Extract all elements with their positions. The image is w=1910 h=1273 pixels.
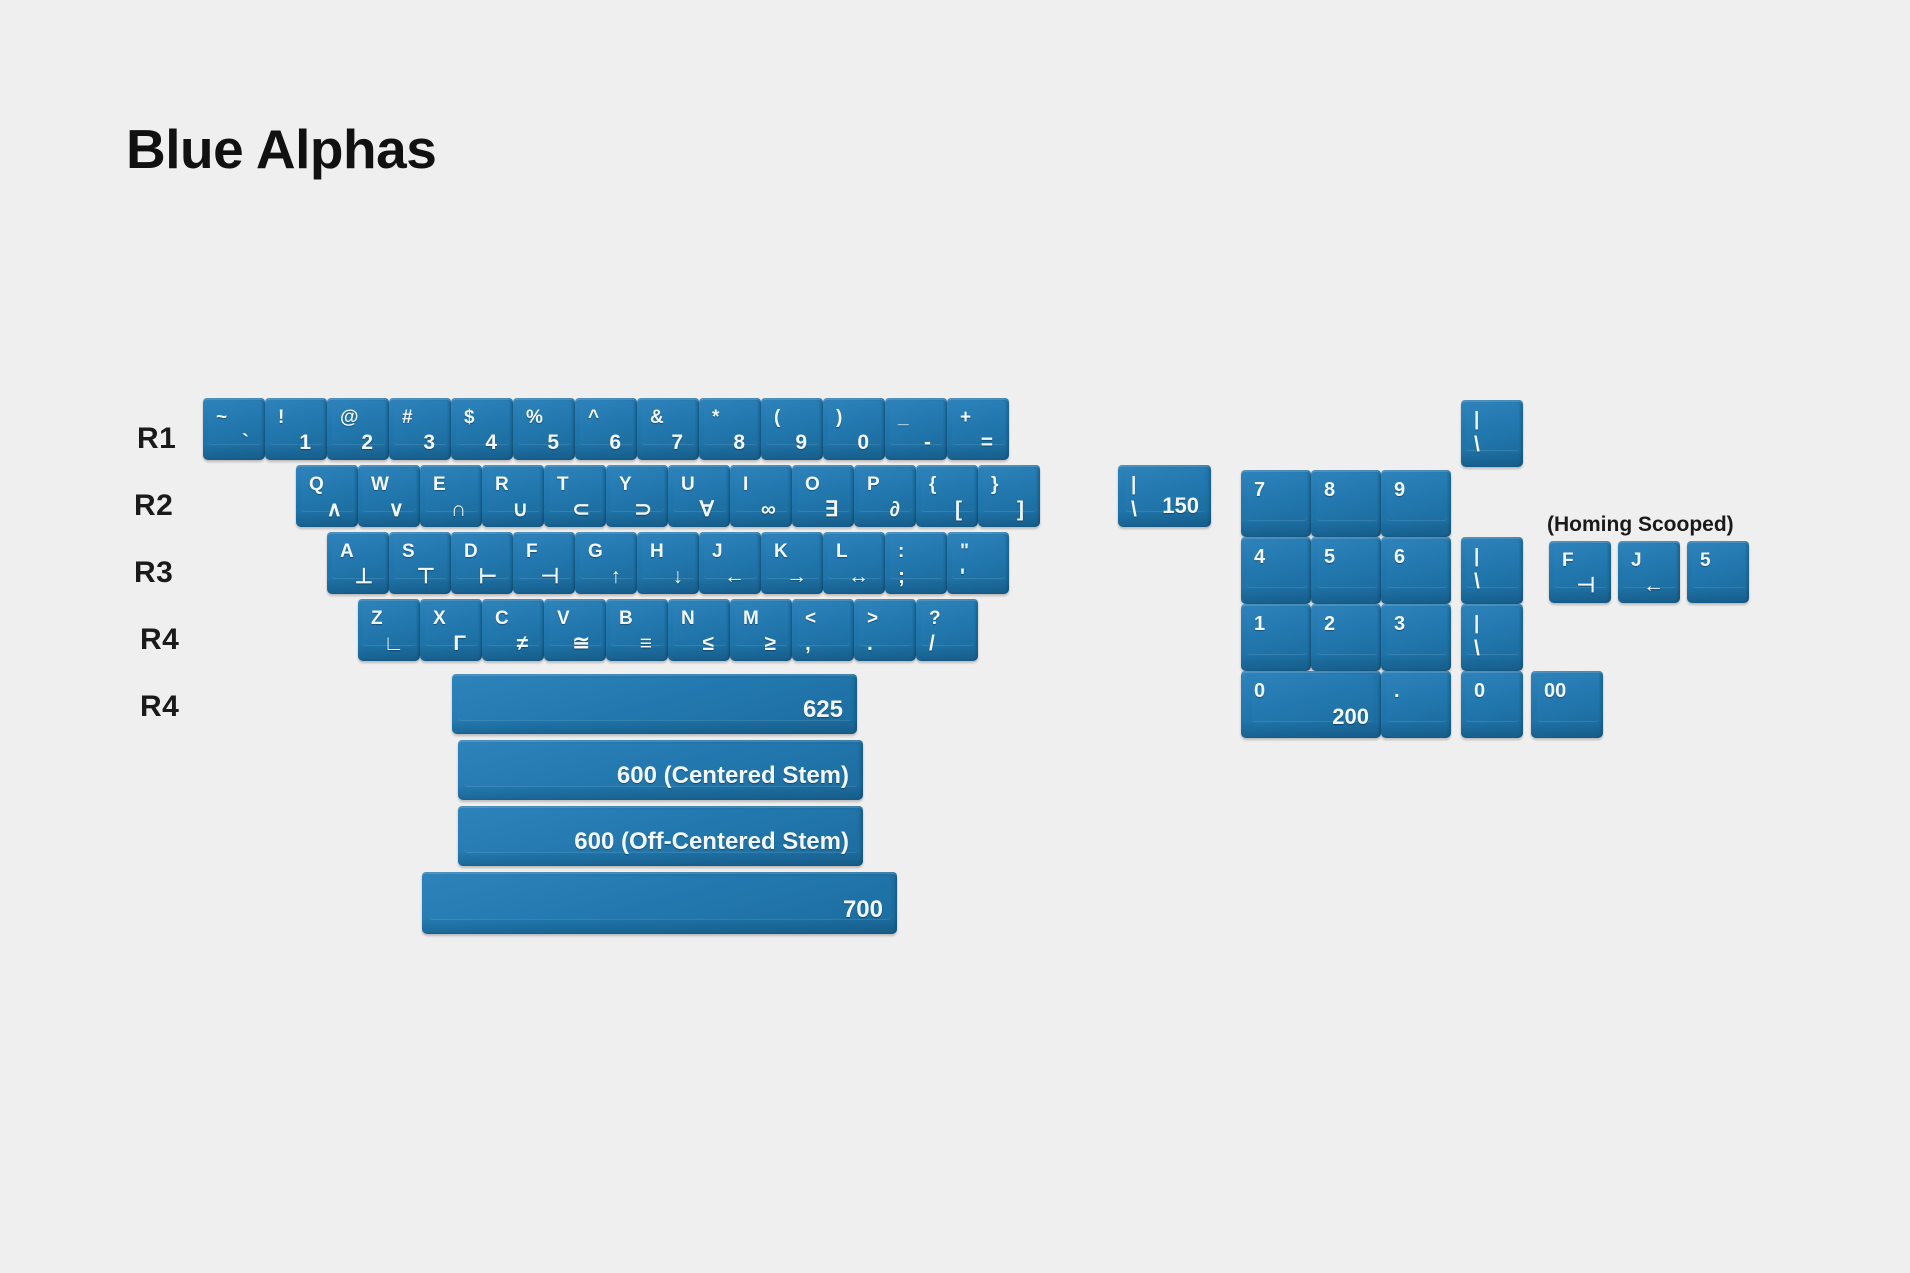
keycap-legend-bottom: 2 <box>361 432 373 453</box>
keycap-numpad-0-200[interactable]: 0 200 <box>1241 671 1381 738</box>
keycap-r4-6[interactable]: M ≥ <box>730 599 792 661</box>
keycap-numpad-5[interactable]: 5 <box>1311 537 1381 604</box>
keycap-legend: 7 <box>1254 480 1265 500</box>
keycap-legend-bottom: 6 <box>609 432 621 453</box>
keycap-legend-bottom: [ <box>955 499 962 520</box>
keycap-legend-top: V <box>557 609 570 628</box>
keycap-legend-top: Z <box>371 609 383 628</box>
keycap-legend-top: ) <box>836 408 842 427</box>
keycap-r4-0[interactable]: Z ∟ <box>358 599 420 661</box>
keycap-legend-bottom: ] <box>1017 499 1024 520</box>
keycap-legend-top: F <box>1562 551 1574 570</box>
keycap-legend-bottom: ∞ <box>761 499 776 520</box>
keycap-legend-bottom: \ <box>1474 434 1480 455</box>
keycap-legend-top: O <box>805 475 820 494</box>
keycap-legend-top: { <box>929 475 936 494</box>
keycap-legend-bottom: ∧ <box>327 499 342 520</box>
keycap-legend-top: @ <box>340 408 359 427</box>
keycap-r3-8[interactable]: L ↔ <box>823 532 885 594</box>
keycap-numpad-3[interactable]: 3 <box>1381 604 1451 671</box>
keycap-size-label: 700 <box>843 898 883 922</box>
keycap-legend-bottom: ∨ <box>389 499 404 520</box>
keycap-legend: 2 <box>1324 614 1335 634</box>
keycap-right-zero[interactable]: 0 <box>1461 671 1523 738</box>
keycap-legend-bottom: ∟ <box>383 633 404 654</box>
keycap-r1-11[interactable]: _ - <box>885 398 947 460</box>
keycap-legend-bottom: . <box>867 633 873 654</box>
keycap-legend: 00 <box>1544 681 1566 701</box>
page-title: Blue Alphas <box>126 122 436 177</box>
keycap-legend-bottom: ⊣ <box>541 566 559 587</box>
keycap-r2-0[interactable]: Q ∧ <box>296 465 358 527</box>
keycap-r4-4[interactable]: B ≡ <box>606 599 668 661</box>
keycap-legend-bottom: ∂ <box>890 499 900 520</box>
keycap-legend: 5 <box>1324 547 1335 567</box>
keycap-r3-2[interactable]: D ⊢ <box>451 532 513 594</box>
keycap-numpad-9[interactable]: 9 <box>1381 470 1451 537</box>
keycap-legend: 0 <box>1474 681 1485 701</box>
keycap-r1-9[interactable]: ( 9 <box>761 398 823 460</box>
keycap-legend-top: ~ <box>216 408 227 427</box>
keycap-legend: . <box>1394 681 1400 701</box>
keycap-legend-top: P <box>867 475 880 494</box>
keycap-r4-3[interactable]: V ≅ <box>544 599 606 661</box>
keycap-legend-bottom: ⊤ <box>417 566 435 587</box>
keycap-legend: 8 <box>1324 480 1335 500</box>
keycap-legend-top: B <box>619 609 633 628</box>
keycap-legend-bottom: 7 <box>671 432 683 453</box>
keycap-legend-bottom: 1 <box>299 432 311 453</box>
keycap-r4-1[interactable]: X Γ <box>420 599 482 661</box>
keycap-legend-bottom: ⊣ <box>1577 575 1595 596</box>
keycap-legend-top: " <box>960 542 969 561</box>
keycap-r2-2[interactable]: E ∩ <box>420 465 482 527</box>
keycap-r1-6[interactable]: ^ 6 <box>575 398 637 460</box>
keycap-homing-f[interactable]: F ⊣ <box>1549 541 1611 603</box>
keycap-legend-bottom: ⊢ <box>479 566 497 587</box>
keycap-legend-bottom: \ <box>1474 638 1480 659</box>
keycap-legend-top: A <box>340 542 354 561</box>
keycap-r2-5[interactable]: Y ⊃ <box>606 465 668 527</box>
keycap-spacebar-600-offcentered[interactable]: 600 (Off-Centered Stem) <box>458 806 863 866</box>
keycap-legend-top: & <box>650 408 664 427</box>
keycap-legend: 6 <box>1394 547 1405 567</box>
keycap-legend-bottom: ≤ <box>702 633 714 654</box>
keycap-legend: 0 <box>1254 681 1265 701</box>
keycap-legend-bottom: ` <box>242 432 249 453</box>
keycap-legend-bottom: ⊂ <box>572 499 590 520</box>
keycap-r4-8[interactable]: > . <box>854 599 916 661</box>
keycap-numpad-8[interactable]: 8 <box>1311 470 1381 537</box>
keycap-numpad-7[interactable]: 7 <box>1241 470 1311 537</box>
keycap-r3-4[interactable]: G ↑ <box>575 532 637 594</box>
keycap-r4-9[interactable]: ? / <box>916 599 978 661</box>
keycap-legend-bottom: ↓ <box>673 566 684 587</box>
keycap-legend-bottom: ← <box>1643 575 1664 596</box>
keycap-r2-4[interactable]: T ⊂ <box>544 465 606 527</box>
keycap-legend-top: * <box>712 408 719 427</box>
keycap-legend-bottom: ∀ <box>700 499 714 520</box>
keycap-numpad-4[interactable]: 4 <box>1241 537 1311 604</box>
keycap-r1-10[interactable]: ) 0 <box>823 398 885 460</box>
keycap-legend-bottom: 4 <box>485 432 497 453</box>
keycap-pipe-a[interactable]: | \ <box>1461 537 1523 604</box>
keycap-r3-10[interactable]: " ' <box>947 532 1009 594</box>
keycap-r3-1[interactable]: S ⊤ <box>389 532 451 594</box>
keycap-legend-bottom: ⊥ <box>355 566 373 587</box>
keycap-legend-top: J <box>1631 551 1642 570</box>
keycap-r3-7[interactable]: K → <box>761 532 823 594</box>
keycap-legend-top: U <box>681 475 695 494</box>
keycap-legend-bottom: ∩ <box>451 499 466 520</box>
keycap-legend-top: % <box>526 408 543 427</box>
keycap-legend-top: ! <box>278 408 284 427</box>
keycap-legend-top: : <box>898 542 904 561</box>
keycap-legend-top: R <box>495 475 509 494</box>
keycap-spacebar-625[interactable]: 625 <box>452 674 857 734</box>
keycap-r3-5[interactable]: H ↓ <box>637 532 699 594</box>
keycap-legend-top: Q <box>309 475 324 494</box>
keycap-legend: 9 <box>1394 480 1405 500</box>
keycap-legend: 1 <box>1254 614 1265 634</box>
keycap-r1-7[interactable]: & 7 <box>637 398 699 460</box>
keycap-legend-top: M <box>743 609 759 628</box>
keycap-legend-top: N <box>681 609 695 628</box>
keycap-spacebar-600-centered[interactable]: 600 (Centered Stem) <box>458 740 863 800</box>
keycap-legend-top: | <box>1474 547 1479 566</box>
keycap-legend-bottom: \ <box>1131 499 1137 520</box>
keycap-legend-top: _ <box>898 408 909 427</box>
keycap-legend-bottom: ≠ <box>516 633 528 654</box>
keycap-r3-3[interactable]: F ⊣ <box>513 532 575 594</box>
keycap-legend-bottom: ∃ <box>825 499 838 520</box>
homing-scooped-note: (Homing Scooped) <box>1547 513 1734 537</box>
keycap-r2-8[interactable]: O ∃ <box>792 465 854 527</box>
keycap-legend-bottom: , <box>805 633 811 654</box>
keycap-size-label: 600 (Centered Stem) <box>617 764 849 788</box>
keycap-legend-top: D <box>464 542 478 561</box>
keycap-legend-top: $ <box>464 408 475 427</box>
keycap-size-label: 625 <box>803 698 843 722</box>
keycap-legend-bottom: ← <box>724 566 745 587</box>
keycap-legend-top: Y <box>619 475 632 494</box>
row-label-r2: R2 <box>134 489 173 523</box>
keycap-r2-6[interactable]: U ∀ <box>668 465 730 527</box>
keycap-r1-2[interactable]: @ 2 <box>327 398 389 460</box>
keycap-legend-bottom: - <box>924 432 931 453</box>
keycap-r2-3[interactable]: R ∪ <box>482 465 544 527</box>
keycap-legend-bottom: ∪ <box>513 499 528 520</box>
keycap-r1-3[interactable]: # 3 <box>389 398 451 460</box>
keycap-r3-6[interactable]: J ← <box>699 532 761 594</box>
keycap-legend-bottom: ↔ <box>848 566 869 587</box>
keycap-legend-bottom: ; <box>898 566 905 587</box>
keycap-legend-bottom: 5 <box>547 432 559 453</box>
keycap-legend-bottom: ⊃ <box>634 499 652 520</box>
keycap-legend-top: W <box>371 475 389 494</box>
keycap-legend-top: X <box>433 609 446 628</box>
keycap-legend-bottom: 0 <box>857 432 869 453</box>
keycap-legend: 4 <box>1254 547 1265 567</box>
row-label-r1: R1 <box>137 422 176 456</box>
keycap-numpad-2[interactable]: 2 <box>1311 604 1381 671</box>
keycap-legend-top: 5 <box>1700 551 1711 570</box>
keycap-legend-top: S <box>402 542 415 561</box>
keycap-size-label: 150 <box>1162 495 1199 517</box>
keycap-size-label: 200 <box>1332 706 1369 728</box>
keycap-homing-5[interactable]: 5 <box>1687 541 1749 603</box>
keycap-legend: 3 <box>1394 614 1405 634</box>
keycap-r2-backslash-150[interactable]: | \ 150 <box>1118 465 1211 527</box>
keycap-r3-0[interactable]: A ⊥ <box>327 532 389 594</box>
keycap-r1-0[interactable]: ~ ` <box>203 398 265 460</box>
keycap-numpad-dot[interactable]: . <box>1381 671 1451 738</box>
keycap-r4-5[interactable]: N ≤ <box>668 599 730 661</box>
keycap-legend-top: ( <box>774 408 780 427</box>
keycap-legend-top: ? <box>929 609 941 628</box>
keycap-r2-9[interactable]: P ∂ <box>854 465 916 527</box>
keycap-legend-top: F <box>526 542 538 561</box>
keycap-legend-bottom: Γ <box>453 633 466 654</box>
keycap-r2-11[interactable]: } ] <box>978 465 1040 527</box>
keycap-legend-bottom: ≡ <box>640 633 652 654</box>
keycap-size-label: 600 (Off-Centered Stem) <box>574 830 849 854</box>
row-label-r4-space: R4 <box>140 690 179 724</box>
keycap-legend-top: C <box>495 609 509 628</box>
keycap-legend-top: > <box>867 609 878 628</box>
keycap-legend-top: # <box>402 408 413 427</box>
keycap-legend-top: G <box>588 542 603 561</box>
keycap-r1-5[interactable]: % 5 <box>513 398 575 460</box>
keycap-legend-bottom: ↑ <box>611 566 622 587</box>
keycap-legend-bottom: → <box>786 566 807 587</box>
keycap-legend-bottom: ' <box>960 566 965 587</box>
keycap-legend-top: | <box>1131 475 1136 494</box>
keycap-legend-top: L <box>836 542 848 561</box>
keycap-legend-top: E <box>433 475 446 494</box>
keycap-legend-top: K <box>774 542 788 561</box>
keycap-right-double-zero[interactable]: 00 <box>1531 671 1603 738</box>
keycap-r2-1[interactable]: W ∨ <box>358 465 420 527</box>
keycap-r3-9[interactable]: : ; <box>885 532 947 594</box>
keycap-legend-bottom: \ <box>1474 571 1480 592</box>
keycap-pipe-b[interactable]: | \ <box>1461 604 1523 671</box>
keycap-legend-top: < <box>805 609 816 628</box>
keycap-legend-bottom: ≥ <box>764 633 776 654</box>
keycap-r4-2[interactable]: C ≠ <box>482 599 544 661</box>
keycap-legend-top: | <box>1474 410 1479 429</box>
keycap-legend-top: ^ <box>588 408 599 427</box>
keycap-r4-7[interactable]: < , <box>792 599 854 661</box>
keycap-r2-7[interactable]: I ∞ <box>730 465 792 527</box>
keycap-legend-bottom: 3 <box>423 432 435 453</box>
keycap-legend-top: I <box>743 475 748 494</box>
keycap-legend-top: + <box>960 408 971 427</box>
keycap-r1-8[interactable]: * 8 <box>699 398 761 460</box>
row-label-r3: R3 <box>134 556 173 590</box>
keycap-r1-4[interactable]: $ 4 <box>451 398 513 460</box>
keycap-r1-1[interactable]: ! 1 <box>265 398 327 460</box>
keycap-legend-top: H <box>650 542 664 561</box>
keycap-r1-12[interactable]: + = <box>947 398 1009 460</box>
row-label-r4: R4 <box>140 623 179 657</box>
keycap-numpad-6[interactable]: 6 <box>1381 537 1451 604</box>
keycap-numpad-1[interactable]: 1 <box>1241 604 1311 671</box>
keycap-legend-bottom: = <box>981 432 993 453</box>
keycap-homing-j[interactable]: J ← <box>1618 541 1680 603</box>
keycap-legend-bottom: 8 <box>733 432 745 453</box>
keycap-pipe-top[interactable]: | \ <box>1461 400 1523 467</box>
keycap-legend-bottom: ≅ <box>572 633 590 654</box>
keycap-legend-top: } <box>991 475 998 494</box>
keycap-r2-10[interactable]: { [ <box>916 465 978 527</box>
keycap-legend-top: J <box>712 542 723 561</box>
keycap-legend-top: | <box>1474 614 1479 633</box>
keycap-legend-top: T <box>557 475 569 494</box>
keycap-spacebar-700[interactable]: 700 <box>422 872 897 934</box>
keycap-legend-bottom: 9 <box>795 432 807 453</box>
keycap-legend-bottom: / <box>929 633 935 654</box>
